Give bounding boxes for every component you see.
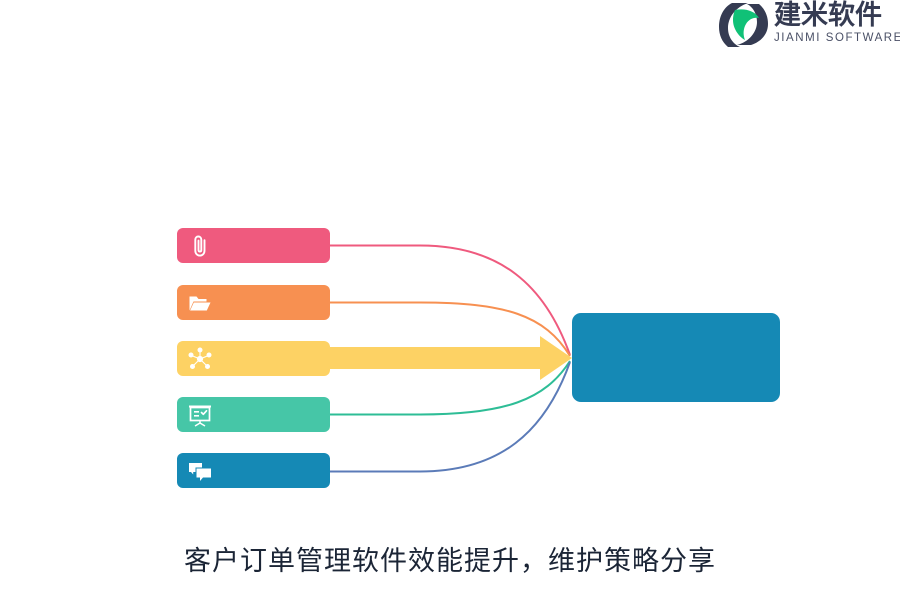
presentation-board-icon (187, 402, 213, 428)
page-caption: 客户订单管理软件效能提升，维护策略分享 (0, 540, 900, 582)
flow-connectors (0, 0, 900, 600)
paperclip-icon (187, 233, 213, 259)
brand-text-block: 建米软件 JIANMI SOFTWARE (774, 0, 900, 45)
connector-path-1 (330, 303, 570, 357)
flow-item-2[interactable] (177, 341, 330, 376)
flow-item-4[interactable] (177, 453, 330, 488)
chat-bubbles-icon (187, 458, 213, 484)
connector-path-3 (330, 361, 570, 415)
flow-item-3[interactable] (177, 397, 330, 432)
flow-item-0[interactable] (177, 228, 330, 263)
brand-name-en: JIANMI SOFTWARE (774, 31, 900, 45)
brand-name-cn: 建米软件 (774, 0, 882, 30)
connector-path-4 (330, 362, 570, 472)
brand-logo: 建米软件 JIANMI SOFTWARE (718, 0, 900, 52)
flow-item-1[interactable] (177, 285, 330, 320)
network-hub-icon (187, 346, 213, 372)
jianmi-logo-icon (718, 1, 770, 49)
open-folder-icon (187, 290, 213, 316)
connector-path-0 (330, 246, 570, 356)
connector-arrow-2 (330, 336, 572, 380)
target-box[interactable] (572, 313, 780, 402)
